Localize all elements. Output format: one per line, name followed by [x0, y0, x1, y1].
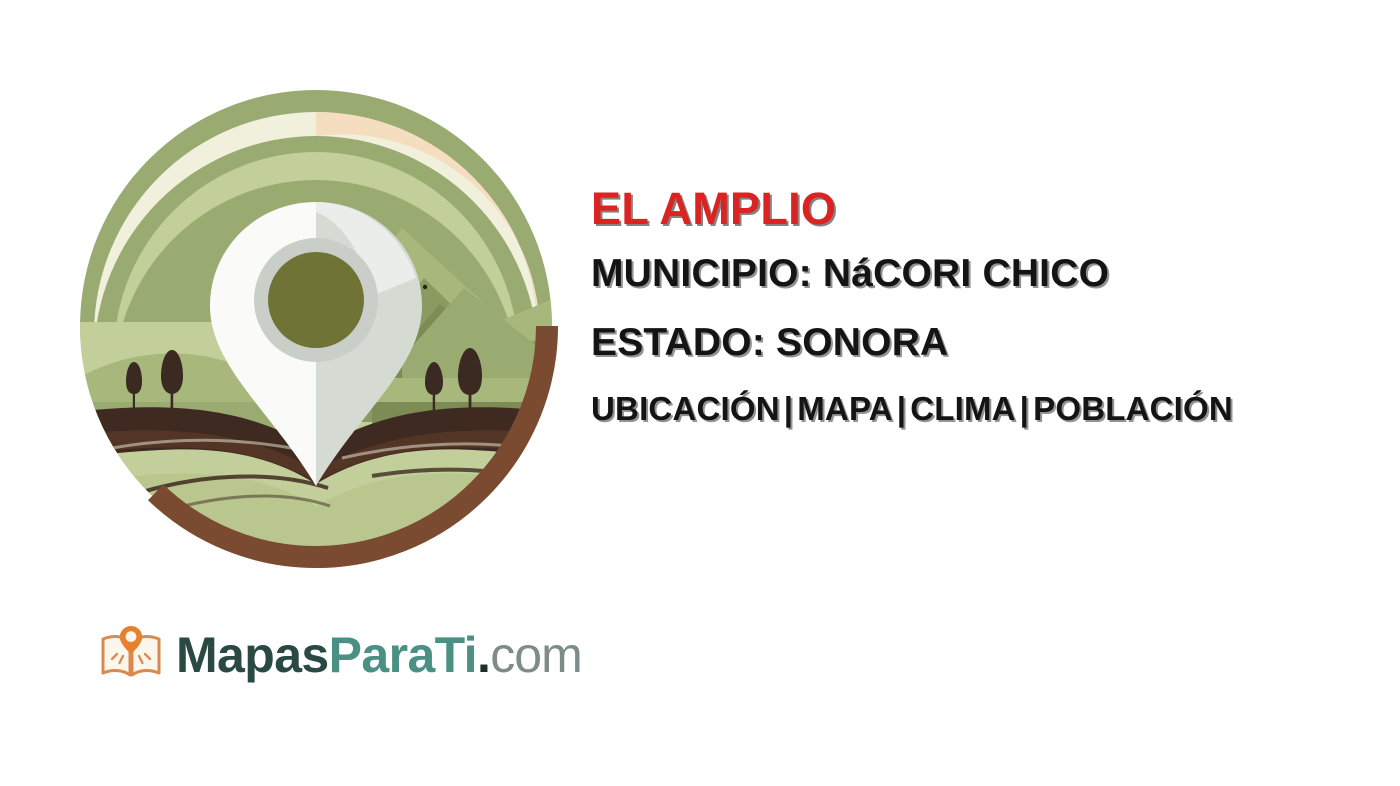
nav-item-poblacion[interactable]: POBLACIÓN [1033, 390, 1233, 427]
page-title: EL AMPLIO [591, 186, 1381, 231]
hero-emblem [72, 82, 560, 570]
nav-item-clima[interactable]: CLIMA [910, 390, 1015, 427]
brand-word-parati: ParaTi [329, 627, 477, 683]
nav-item-ubicacion[interactable]: UBICACIÓN [591, 390, 780, 427]
poster-root: EL AMPLIO MUNICIPIO: NáCORI CHICO ESTADO… [0, 0, 1400, 786]
info-block: EL AMPLIO MUNICIPIO: NáCORI CHICO ESTADO… [591, 186, 1381, 425]
open-book-pin-icon [98, 622, 164, 688]
brand-dot: . [477, 627, 490, 683]
brand-word-mapas: Mapas [176, 627, 329, 683]
nav-separator: | [780, 390, 797, 427]
brand-wordmark: MapasParaTi.com [176, 630, 582, 680]
open-book-pin-icon-svg [98, 622, 164, 688]
nav-separator: | [1016, 390, 1033, 427]
nav-separator: | [893, 390, 910, 427]
map-pin-landscape-emblem-svg [72, 82, 560, 570]
municipio-line: MUNICIPIO: NáCORI CHICO [591, 254, 1381, 293]
estado-line: ESTADO: SONORA [591, 323, 1381, 362]
section-nav: UBICACIÓN|MAPA|CLIMA|POBLACIÓN [591, 392, 1381, 425]
brand-word-com: com [490, 627, 581, 683]
brand-logo[interactable]: MapasParaTi.com [98, 618, 582, 692]
nav-item-mapa[interactable]: MAPA [797, 390, 893, 427]
